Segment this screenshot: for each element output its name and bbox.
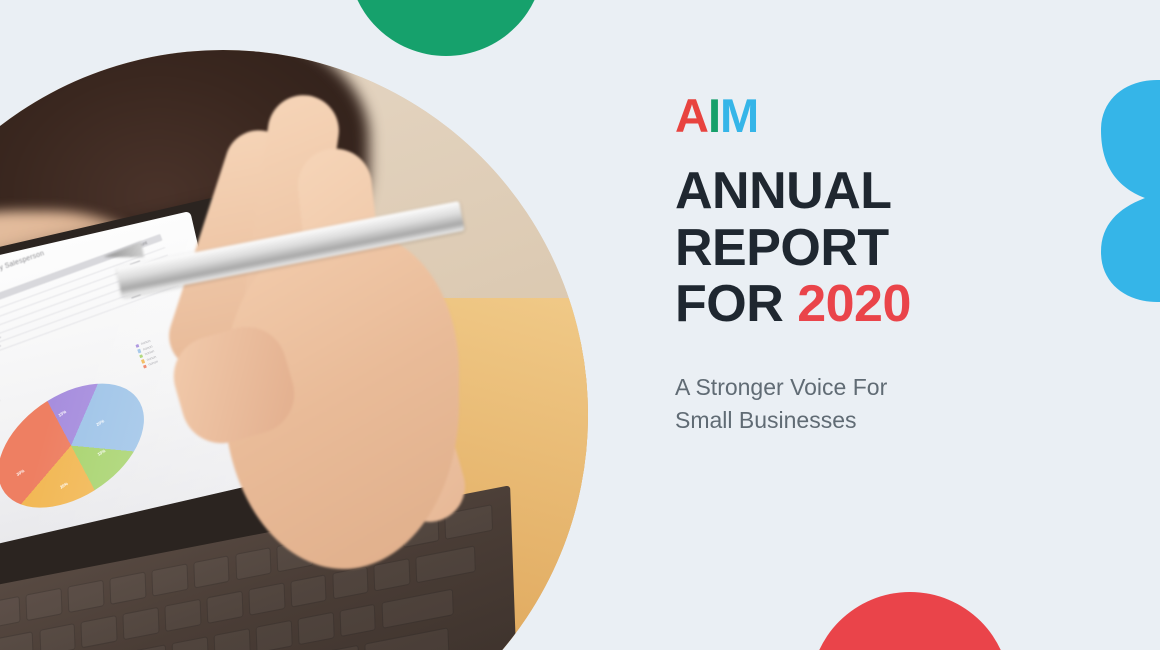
pie-chart-title: Pie Chart xyxy=(0,397,1,411)
pie-label-1: 15% xyxy=(58,409,67,418)
subtitle-line-2: Small Businesses xyxy=(675,404,1005,437)
pie-label-5: 30% xyxy=(16,469,25,478)
page-title: ANNUAL REPORT FOR 2020 xyxy=(675,163,1095,333)
headline-year: 2020 xyxy=(797,275,911,333)
decor-green-circle xyxy=(348,0,544,56)
subtitle: A Stronger Voice For Small Businesses xyxy=(675,371,1005,436)
aim-logo: AIM xyxy=(675,92,1095,139)
title-block: AIM ANNUAL REPORT FOR 2020 A Stronger Vo… xyxy=(675,92,1095,436)
subtitle-line-1: A Stronger Voice For xyxy=(675,371,1005,404)
blue-blob-icon xyxy=(1093,78,1160,304)
photo-contents: Fundraiser Results by Salesperson Column… xyxy=(0,50,588,650)
headline-line-2: REPORT xyxy=(675,220,1095,277)
pie-label-2: 20% xyxy=(96,419,105,428)
hero-photo: Fundraiser Results by Salesperson Column… xyxy=(0,50,588,650)
pie-graphic: 15% 20% 15% 20% 30% xyxy=(0,358,164,533)
photo-hand xyxy=(150,94,486,634)
logo-letter-a: A xyxy=(675,89,708,142)
headline-line-1: ANNUAL xyxy=(675,163,1095,220)
pie-label-4: 20% xyxy=(60,482,69,491)
decor-blue-blob xyxy=(1093,78,1160,304)
logo-letter-m: M xyxy=(720,89,758,142)
logo-letter-i: I xyxy=(708,89,720,142)
pie-label-3: 15% xyxy=(98,449,107,458)
headline-for: FOR xyxy=(675,275,797,333)
headline-line-3: FOR 2020 xyxy=(675,276,1095,333)
slide-canvas: Fundraiser Results by Salesperson Column… xyxy=(0,0,1160,650)
decor-red-circle xyxy=(810,592,1010,650)
